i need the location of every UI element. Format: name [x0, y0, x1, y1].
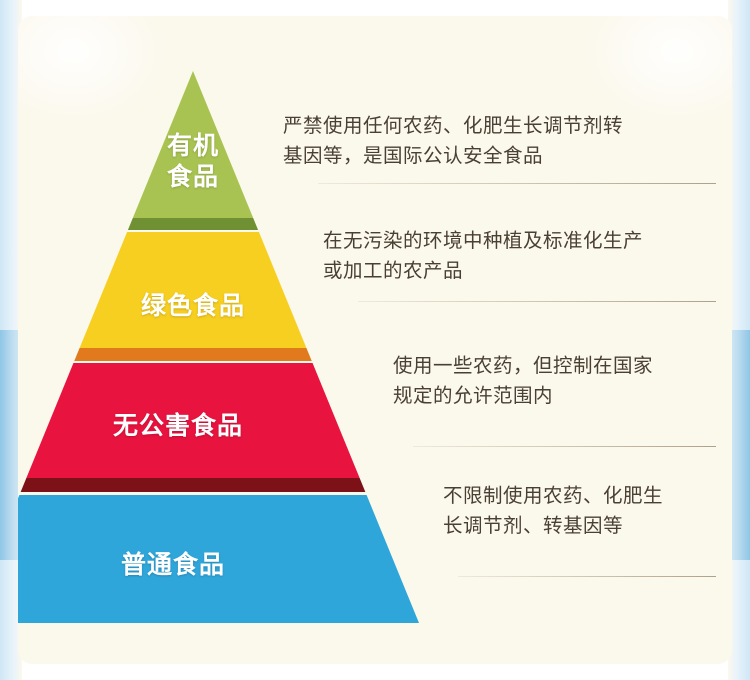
pyramid-level-3-description: 使用一些农药，但控制在国家 规定的允许范围内 — [393, 351, 723, 411]
divider-1 — [318, 183, 716, 184]
divider-3 — [413, 446, 716, 447]
diagram-card: 有机 食品 绿色食品 无公害食品 普通食品 严禁使用任何农药、化肥生长调节剂转 … — [18, 16, 732, 664]
pyramid-level-2-base — [74, 348, 311, 361]
pyramid-level-4-label: 普通食品 — [58, 550, 288, 581]
pyramid-level-1-description: 严禁使用任何农药、化肥生长调节剂转 基因等，是国际公认安全食品 — [283, 111, 723, 171]
pyramid-level-2-description: 在无污染的环境中种植及标准化生产 或加工的农产品 — [323, 226, 723, 286]
divider-4 — [458, 576, 716, 577]
pyramid-level-2-shape[interactable] — [80, 232, 307, 348]
diagram-canvas: 有机 食品 绿色食品 无公害食品 普通食品 严禁使用任何农药、化肥生长调节剂转 … — [0, 0, 750, 680]
pyramid-level-1-label: 有机 食品 — [123, 131, 263, 192]
divider-2 — [358, 301, 716, 302]
pyramid-level-1-base — [128, 218, 258, 230]
pyramid-level-3-base — [21, 478, 366, 492]
pyramid-level-4-description: 不限制使用农药、化肥生 长调节剂、转基因等 — [443, 481, 723, 541]
pyramid-level-2-label: 绿色食品 — [93, 291, 293, 322]
pyramid-level-3-label: 无公害食品 — [63, 411, 293, 442]
